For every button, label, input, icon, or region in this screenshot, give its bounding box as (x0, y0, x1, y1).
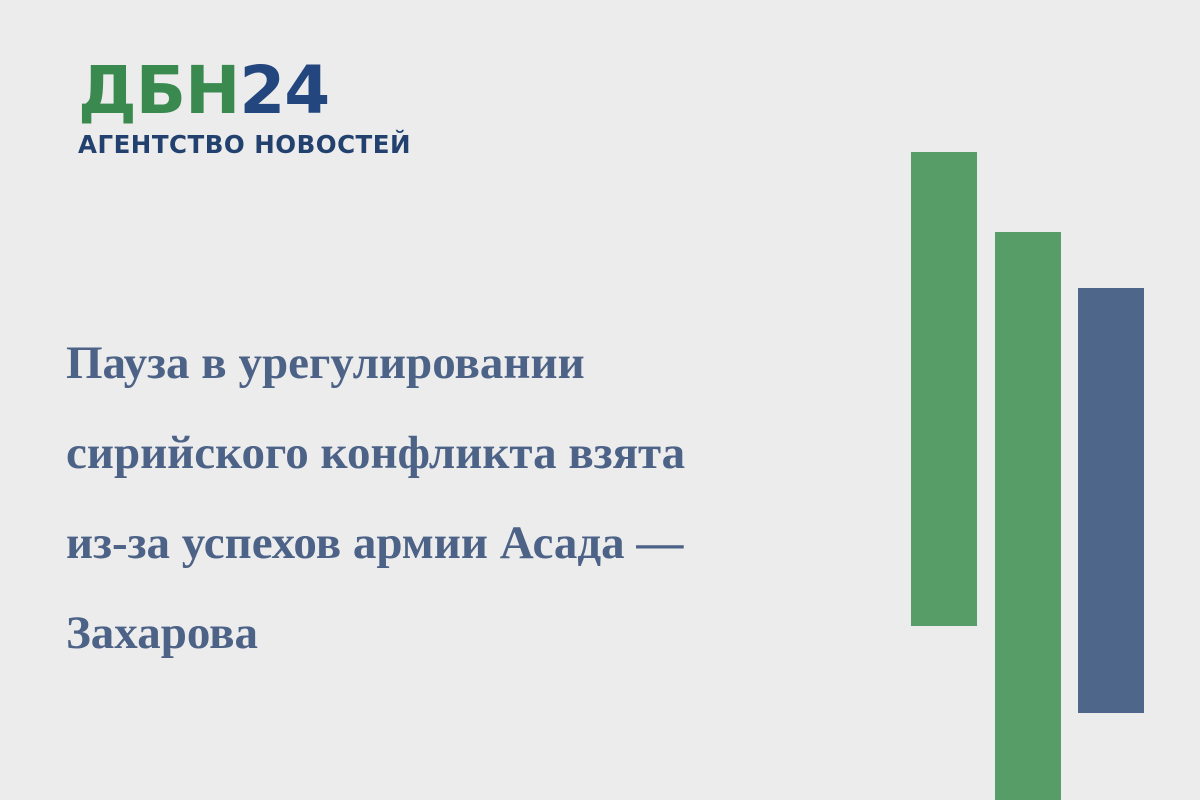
logo-wordmark-secondary: 24 (239, 52, 329, 129)
logo-wordmark: ДБН24 (78, 58, 378, 128)
logo-tagline: АГЕНТСТВО НОВОСТЕЙ (78, 130, 378, 159)
headline: Пауза в урегулировании сирийского конфли… (66, 318, 866, 678)
news-card: ДБН24 АГЕНТСТВО НОВОСТЕЙ Пауза в урегули… (0, 0, 1200, 800)
logo-wordmark-primary: ДБН (78, 52, 239, 129)
headline-line-3: из-за успехов армии Асада — (66, 498, 866, 588)
headline-line-4: Захарова (66, 588, 866, 678)
headline-line-2: сирийского конфликта взята (66, 408, 866, 498)
chart-bar-2 (995, 232, 1061, 800)
site-logo[interactable]: ДБН24 АГЕНТСТВО НОВОСТЕЙ (78, 58, 378, 163)
chart-bar-1 (911, 152, 977, 626)
chart-bar-3 (1078, 288, 1144, 713)
headline-line-1: Пауза в урегулировании (66, 318, 866, 408)
